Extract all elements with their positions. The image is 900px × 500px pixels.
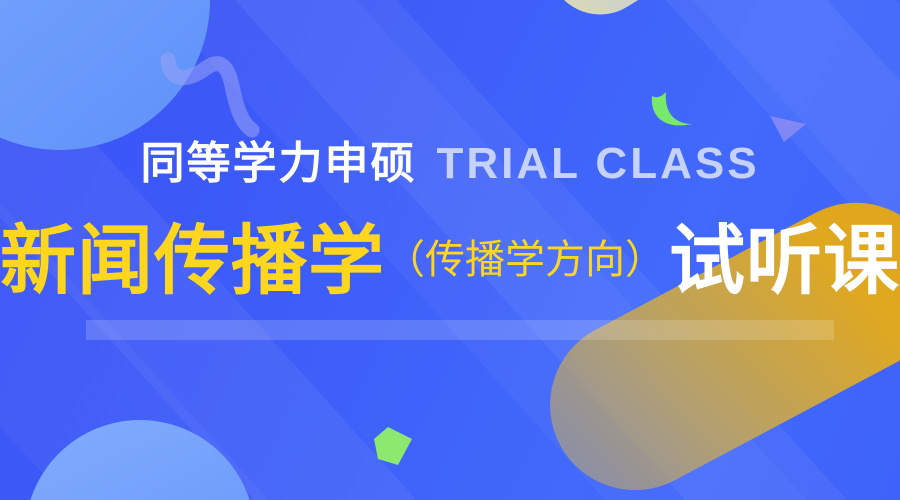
eyebrow-chinese-text: 同等学力申硕	[140, 139, 416, 188]
headline-main-text: 新闻传播学	[0, 219, 385, 304]
headline-line: 新闻传播学（传播学方向）试听课	[0, 224, 900, 300]
eyebrow-english-text: TRIAL CLASS	[436, 139, 759, 188]
eyebrow-line: 同等学力申硕TRIAL CLASS	[0, 142, 900, 186]
headline-tail-text: 试听课	[669, 219, 900, 304]
promo-banner: 同等学力申硕TRIAL CLASS 新闻传播学（传播学方向）试听课	[0, 0, 900, 500]
headline-parenthetical-text: （传播学方向）	[385, 238, 665, 282]
banner-content: 同等学力申硕TRIAL CLASS 新闻传播学（传播学方向）试听课	[0, 0, 900, 500]
